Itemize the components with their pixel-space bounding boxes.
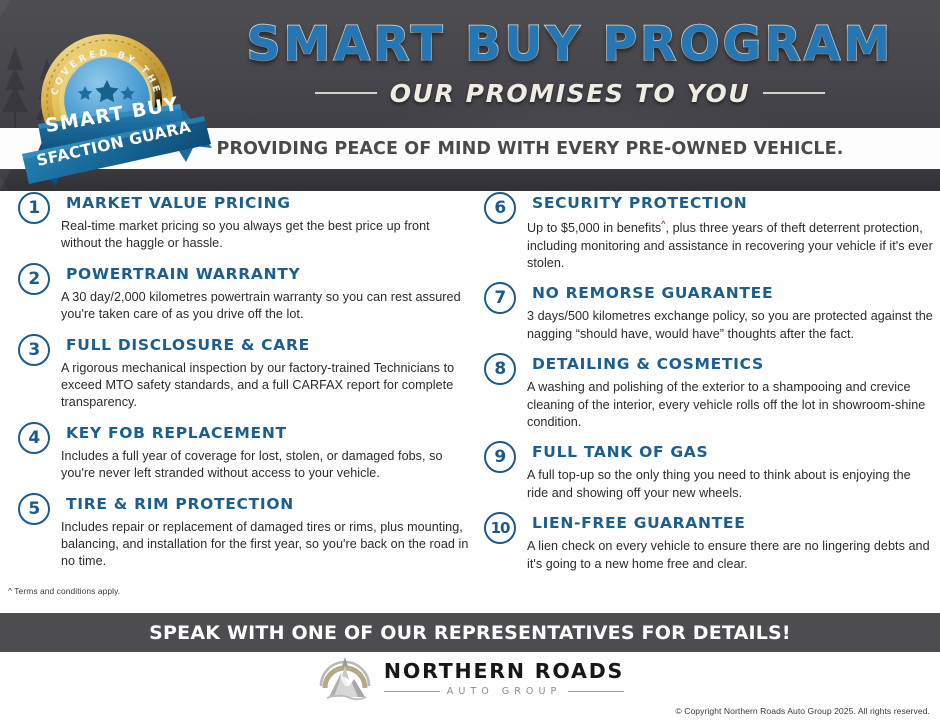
- promise-item-8: 8 DETAILING & COSMETICS A washing and po…: [480, 356, 935, 431]
- logo-name: NORTHERN ROADS: [384, 661, 624, 683]
- logo-wordmark: NORTHERN ROADS AUTO GROUP: [384, 661, 624, 697]
- logo-rule-left: [384, 691, 440, 692]
- promise-title-6: SECURITY PROTECTION: [532, 195, 935, 212]
- promise-desc-7: 3 days/500 kilometres exchange policy, s…: [527, 308, 935, 343]
- promise-desc-8: A washing and polishing of the exterior …: [527, 379, 935, 431]
- promise-title-3: FULL DISCLOSURE & CARE: [66, 337, 469, 354]
- promise-title-1: MARKET VALUE PRICING: [66, 195, 469, 212]
- promise-item-6: 6 SECURITY PROTECTION Up to $5,000 in be…: [480, 195, 935, 272]
- promises-column-right: 6 SECURITY PROTECTION Up to $5,000 in be…: [480, 191, 935, 586]
- smart-buy-program-flyer: SMART BUY PROGRAM OUR PROMISES TO YOU PR…: [0, 0, 940, 722]
- promise-number-1: 1: [18, 192, 50, 224]
- cta-text: SPEAK WITH ONE OF OUR REPRESENTATIVES FO…: [149, 622, 791, 644]
- promise-item-9: 9 FULL TANK OF GAS A full top-up so the …: [480, 444, 935, 502]
- promise-number-6: 6: [484, 192, 516, 224]
- promise-title-8: DETAILING & COSMETICS: [532, 356, 935, 373]
- promise-desc-6: Up to $5,000 in benefits^, plus three ye…: [527, 218, 935, 272]
- promise-desc-10: A lien check on every vehicle to ensure …: [527, 538, 935, 573]
- copyright-text: © Copyright Northern Roads Auto Group 20…: [675, 706, 930, 716]
- promise-title-10: LIEN-FREE GUARANTEE: [532, 515, 935, 532]
- logo-subtitle-row: AUTO GROUP: [384, 686, 624, 697]
- mountain-compass-logo-icon: [316, 656, 374, 702]
- promise-number-10: 10: [484, 512, 516, 544]
- terms-note: ^ Terms and conditions apply.: [8, 586, 120, 596]
- promise-number-3: 3: [18, 334, 50, 366]
- promise-item-10: 10 LIEN-FREE GUARANTEE A lien check on e…: [480, 515, 935, 573]
- promise-item-5: 5 TIRE & RIM PROTECTION Includes repair …: [14, 496, 469, 571]
- subtitle-row: OUR PROMISES TO YOU: [215, 79, 925, 108]
- promise-title-4: KEY FOB REPLACEMENT: [66, 425, 469, 442]
- header-title-group: SMART BUY PROGRAM OUR PROMISES TO YOU: [215, 20, 925, 108]
- promise-item-1: 1 MARKET VALUE PRICING Real-time market …: [14, 195, 469, 253]
- promises-body: 1 MARKET VALUE PRICING Real-time market …: [0, 191, 940, 611]
- promise-desc-5: Includes repair or replacement of damage…: [61, 519, 469, 571]
- promise-number-2: 2: [18, 263, 50, 295]
- promise-item-7: 7 NO REMORSE GUARANTEE 3 days/500 kilome…: [480, 285, 935, 343]
- smart-buy-satisfaction-guarantee-badge: COVERED BY THE ★ SMART BUY ★ SATISFACTIO…: [8, 14, 236, 186]
- promise-title-5: TIRE & RIM PROTECTION: [66, 496, 469, 513]
- logo-rule-right: [568, 691, 624, 692]
- promise-item-3: 3 FULL DISCLOSURE & CARE A rigorous mech…: [14, 337, 469, 412]
- subtitle-rule-right: [763, 92, 825, 94]
- promise-title-9: FULL TANK OF GAS: [532, 444, 935, 461]
- brand-logo: NORTHERN ROADS AUTO GROUP: [0, 656, 940, 702]
- promise-desc-3: A rigorous mechanical inspection by our …: [61, 360, 469, 412]
- promise-title-7: NO REMORSE GUARANTEE: [532, 285, 935, 302]
- promise-number-9: 9: [484, 441, 516, 473]
- footer: NORTHERN ROADS AUTO GROUP © Copyright No…: [0, 652, 940, 722]
- logo-subtitle: AUTO GROUP: [447, 686, 562, 697]
- subtitle-rule-left: [315, 92, 377, 94]
- promise-desc-1: Real-time market pricing so you always g…: [61, 218, 469, 253]
- cta-bar: SPEAK WITH ONE OF OUR REPRESENTATIVES FO…: [0, 613, 940, 652]
- promise-desc-2: A 30 day/2,000 kilometres powertrain war…: [61, 289, 469, 324]
- promise-number-8: 8: [484, 353, 516, 385]
- promise-number-5: 5: [18, 493, 50, 525]
- promises-column-left: 1 MARKET VALUE PRICING Real-time market …: [14, 191, 469, 584]
- promise-number-7: 7: [484, 282, 516, 314]
- promise-item-4: 4 KEY FOB REPLACEMENT Includes a full ye…: [14, 425, 469, 483]
- page-subtitle: OUR PROMISES TO YOU: [390, 79, 750, 108]
- promise-number-4: 4: [18, 422, 50, 454]
- promise-desc-9: A full top-up so the only thing you need…: [527, 467, 935, 502]
- page-title: SMART BUY PROGRAM: [215, 20, 925, 70]
- promise-title-2: POWERTRAIN WARRANTY: [66, 266, 469, 283]
- promise-item-2: 2 POWERTRAIN WARRANTY A 30 day/2,000 kil…: [14, 266, 469, 324]
- promise-desc-4: Includes a full year of coverage for los…: [61, 448, 469, 483]
